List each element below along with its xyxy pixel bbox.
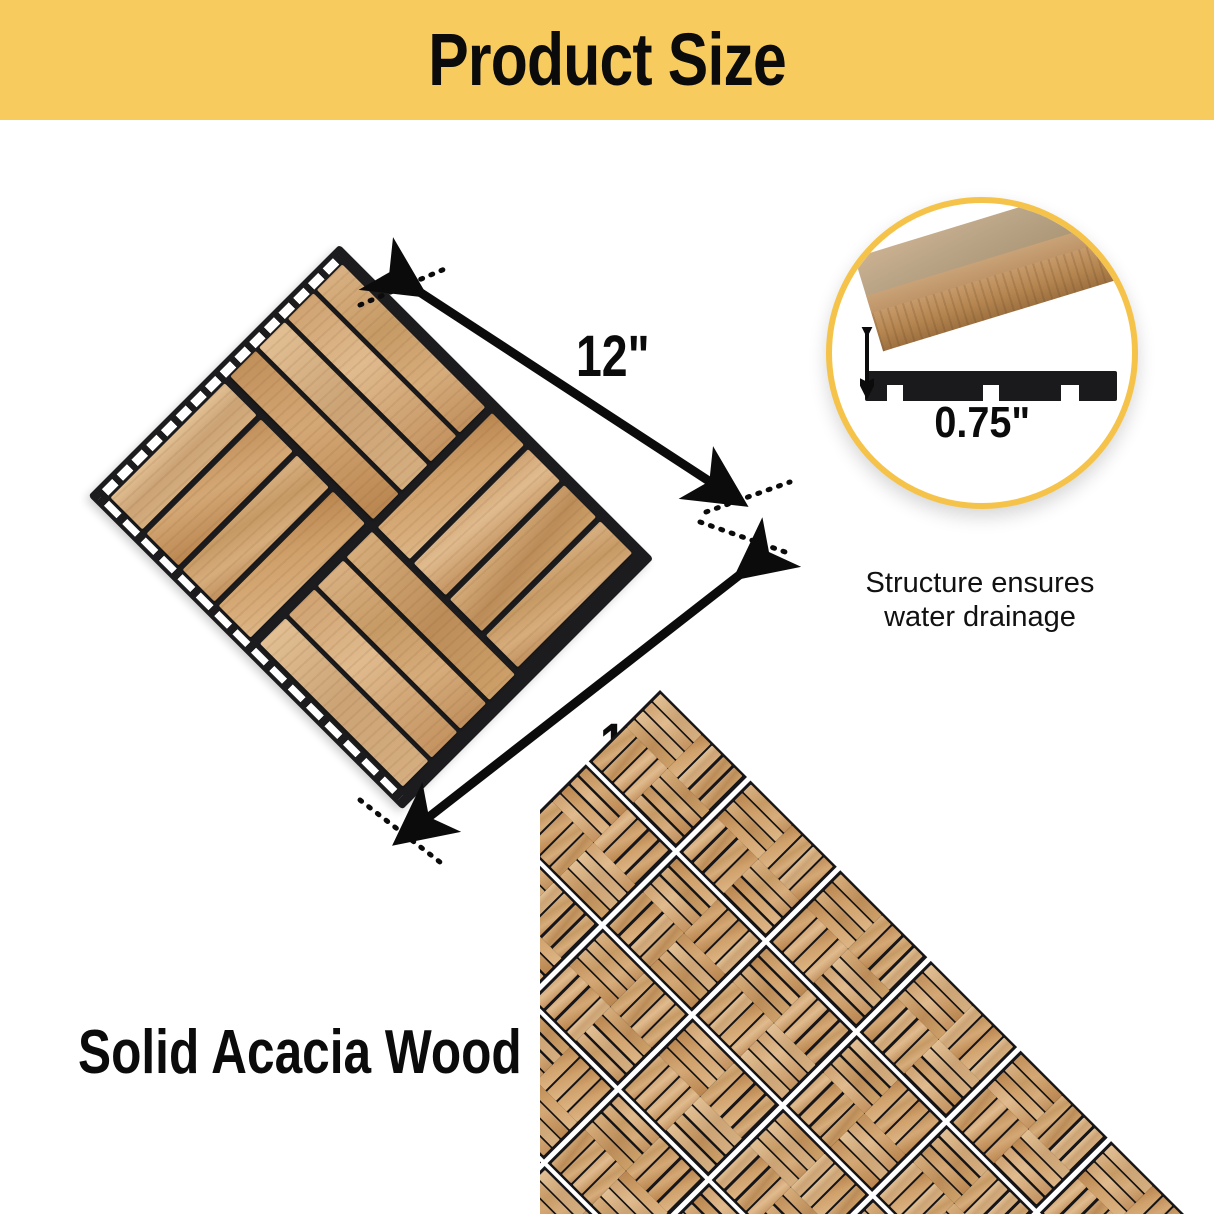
thickness-callout-circle: 0.75" xyxy=(826,197,1138,509)
tile-array-grid xyxy=(540,690,1197,1214)
header-band: Product Size xyxy=(0,0,1214,120)
tile-array-photo xyxy=(540,600,1214,1214)
tile-edge-profile xyxy=(854,197,1138,372)
thickness-value: 0.75" xyxy=(832,401,1132,445)
dimension-label-width: 12" xyxy=(576,328,668,386)
extension-line-right-lower xyxy=(700,522,788,553)
thickness-arrow-icon xyxy=(860,327,874,401)
infographic-canvas: Product Size xyxy=(0,0,1214,1214)
extension-line-right-upper xyxy=(706,482,790,512)
page-title: Product Size xyxy=(428,23,786,97)
material-headline: Solid Acacia Wood xyxy=(78,1022,633,1084)
plastic-base-profile xyxy=(865,371,1117,401)
